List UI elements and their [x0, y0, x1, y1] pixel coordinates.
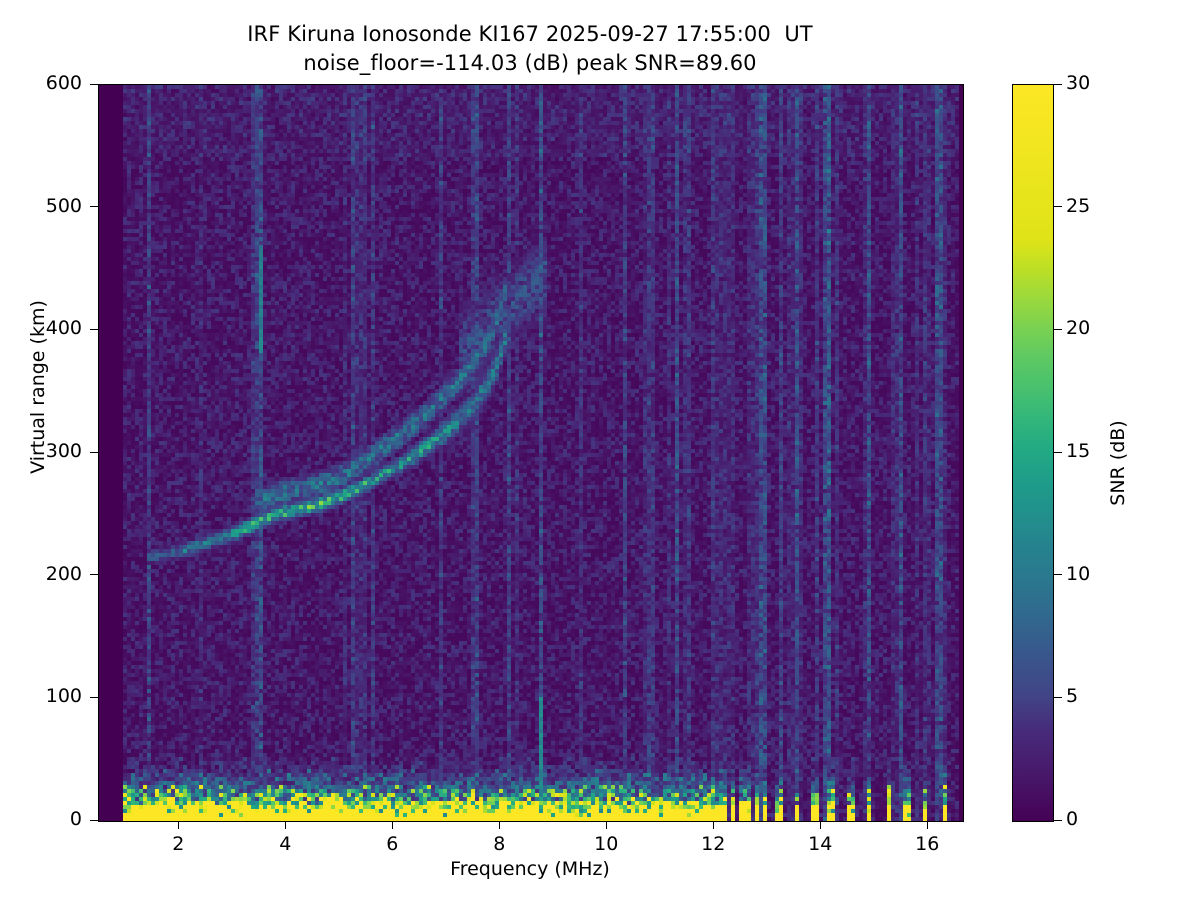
- y-tick-label: 0: [0, 810, 82, 829]
- x-tick-mark: [285, 821, 286, 829]
- ionogram-heatmap: [99, 85, 963, 821]
- colorbar-tick-label: 0: [1066, 810, 1078, 829]
- colorbar-tick-mark: [1054, 574, 1062, 575]
- x-tick-label: 6: [352, 833, 432, 855]
- x-tick-mark: [713, 821, 714, 829]
- x-tick-mark: [499, 821, 500, 829]
- x-tick-label: 8: [459, 833, 539, 855]
- x-tick-mark: [606, 821, 607, 829]
- title-line-2: noise_floor=-114.03 (dB) peak SNR=89.60: [0, 49, 1060, 78]
- y-tick-mark: [90, 820, 98, 821]
- colorbar-tick-label: 25: [1066, 197, 1090, 216]
- figure-title: IRF Kiruna Ionosonde KI167 2025-09-27 17…: [0, 20, 1060, 78]
- colorbar-tick-label: 5: [1066, 687, 1078, 706]
- colorbar-inner: [1013, 85, 1053, 821]
- x-tick-mark: [392, 821, 393, 829]
- colorbar-label: SNR (dB): [1107, 303, 1129, 623]
- colorbar-tick-mark: [1054, 329, 1062, 330]
- y-tick-mark: [90, 84, 98, 85]
- x-tick-label: 10: [566, 833, 646, 855]
- y-axis-label: Virtual range (km): [27, 187, 49, 587]
- colorbar-tick-label: 20: [1066, 319, 1090, 338]
- colorbar-tick-mark: [1054, 84, 1062, 85]
- x-tick-label: 14: [780, 833, 860, 855]
- y-tick-label: 600: [0, 74, 82, 93]
- colorbar-tick-label: 30: [1066, 74, 1090, 93]
- title-line-1: IRF Kiruna Ionosonde KI167 2025-09-27 17…: [0, 20, 1060, 49]
- ionogram-plot-area: [98, 84, 964, 822]
- ionogram-figure: IRF Kiruna Ionosonde KI167 2025-09-27 17…: [0, 0, 1200, 900]
- y-tick-mark: [90, 329, 98, 330]
- colorbar-tick-mark: [1054, 206, 1062, 207]
- y-tick-mark: [90, 574, 98, 575]
- colorbar-tick-mark: [1054, 820, 1062, 821]
- colorbar-tick-mark: [1054, 452, 1062, 453]
- x-tick-mark: [178, 821, 179, 829]
- x-tick-label: 12: [673, 833, 753, 855]
- x-tick-mark: [927, 821, 928, 829]
- x-tick-mark: [820, 821, 821, 829]
- x-tick-label: 2: [138, 833, 218, 855]
- x-axis-label: Frequency (MHz): [98, 858, 962, 880]
- x-tick-label: 4: [245, 833, 325, 855]
- y-tick-label: 100: [0, 687, 82, 706]
- x-tick-label: 16: [887, 833, 967, 855]
- colorbar-gradient: [1012, 84, 1054, 822]
- colorbar-tick-label: 10: [1066, 565, 1090, 584]
- y-tick-mark: [90, 697, 98, 698]
- y-tick-mark: [90, 206, 98, 207]
- y-tick-mark: [90, 452, 98, 453]
- colorbar-tick-mark: [1054, 697, 1062, 698]
- colorbar-tick-label: 15: [1066, 442, 1090, 461]
